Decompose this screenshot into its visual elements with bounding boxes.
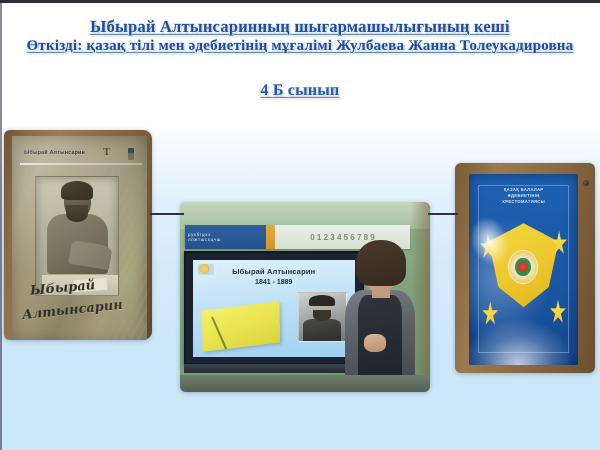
publisher-mark-icon <box>128 148 134 160</box>
portrait-hair <box>61 181 93 200</box>
signature-line-1: Ыбырай <box>29 278 95 299</box>
projection-board: Ыбырай Алтынсарин 1841 - 1889 <box>184 251 364 365</box>
divider-line-right <box>428 213 458 215</box>
page-title: Ыбырай Алтынсаринның шығармашылығының ке… <box>14 18 586 37</box>
projected-yellow-scroll <box>202 302 280 352</box>
book-cover-front: Ыбырай Алтынсарин T Ыбырай Алтынсарин <box>12 136 147 340</box>
teacher-hair <box>356 240 406 286</box>
teacher-figure <box>340 240 420 392</box>
slide-heading-block: Ыбырай Алтынсаринның шығармашылығының ке… <box>0 18 600 100</box>
publisher-logo-icon: T <box>103 147 116 160</box>
projected-slide: Ыбырай Алтынсарин 1841 - 1889 <box>193 260 355 357</box>
slide-subtitle: Өткізді: қазақ тілі мен әдебиетінің мұға… <box>14 38 586 55</box>
board-tray <box>184 364 364 374</box>
projected-slide-title: Ыбырай Алтынсарин <box>193 267 355 276</box>
strip-separator <box>266 225 275 250</box>
teacher-hands <box>364 334 386 352</box>
alphabet-section: рукбгдхз лпжтшсхцчш <box>185 225 266 250</box>
projected-slide-dates: 1841 - 1889 <box>193 279 355 286</box>
portrait-beard <box>66 205 88 222</box>
cover-rule <box>20 163 142 165</box>
book-author-text: Ыбырай Алтынсарин <box>24 150 85 156</box>
presentation-slide: Ыбырай Алтынсаринның шығармашылығының ке… <box>0 0 600 450</box>
anthology-cover: ҚАЗАҚ БАЛАЛАР ӘДЕБИЕТІНІҢ ХРЕСТОМАТИЯСЫ <box>469 174 578 365</box>
projected-portrait-body <box>303 319 341 341</box>
anthology-title: ҚАЗАҚ БАЛАЛАР ӘДЕБИЕТІНІҢ ХРЕСТОМАТИЯСЫ <box>478 187 570 205</box>
photo-book-cover-right: ҚАЗАҚ БАЛАЛАР ӘДЕБИЕТІНІҢ ХРЕСТОМАТИЯСЫ <box>455 163 595 373</box>
cover-light-bloom <box>469 284 578 364</box>
classroom-side-wall <box>410 202 430 392</box>
scroll-text-line <box>211 316 233 352</box>
alphabet-row-2: лпжтшсхцчш <box>188 237 266 242</box>
handwritten-signature: Ыбырай Алтынсарин <box>20 277 139 333</box>
divider-line-left <box>150 213 184 215</box>
anthology-title-line-3: ХРЕСТОМАТИЯСЫ <box>478 199 570 205</box>
signature-line-2: Алтынсарин <box>22 298 124 323</box>
classroom-floor <box>180 375 430 392</box>
photo-book-cover-left: Ыбырай Алтынсарин T Ыбырай Алтынсарин <box>4 130 152 340</box>
projected-portrait-hair <box>309 295 335 307</box>
class-label: 4 Б сынып <box>14 82 586 100</box>
photo-classroom-center: рукбгдхз лпжтшсхцчш 0 1 2 3 4 5 6 7 8 9 … <box>180 202 430 392</box>
